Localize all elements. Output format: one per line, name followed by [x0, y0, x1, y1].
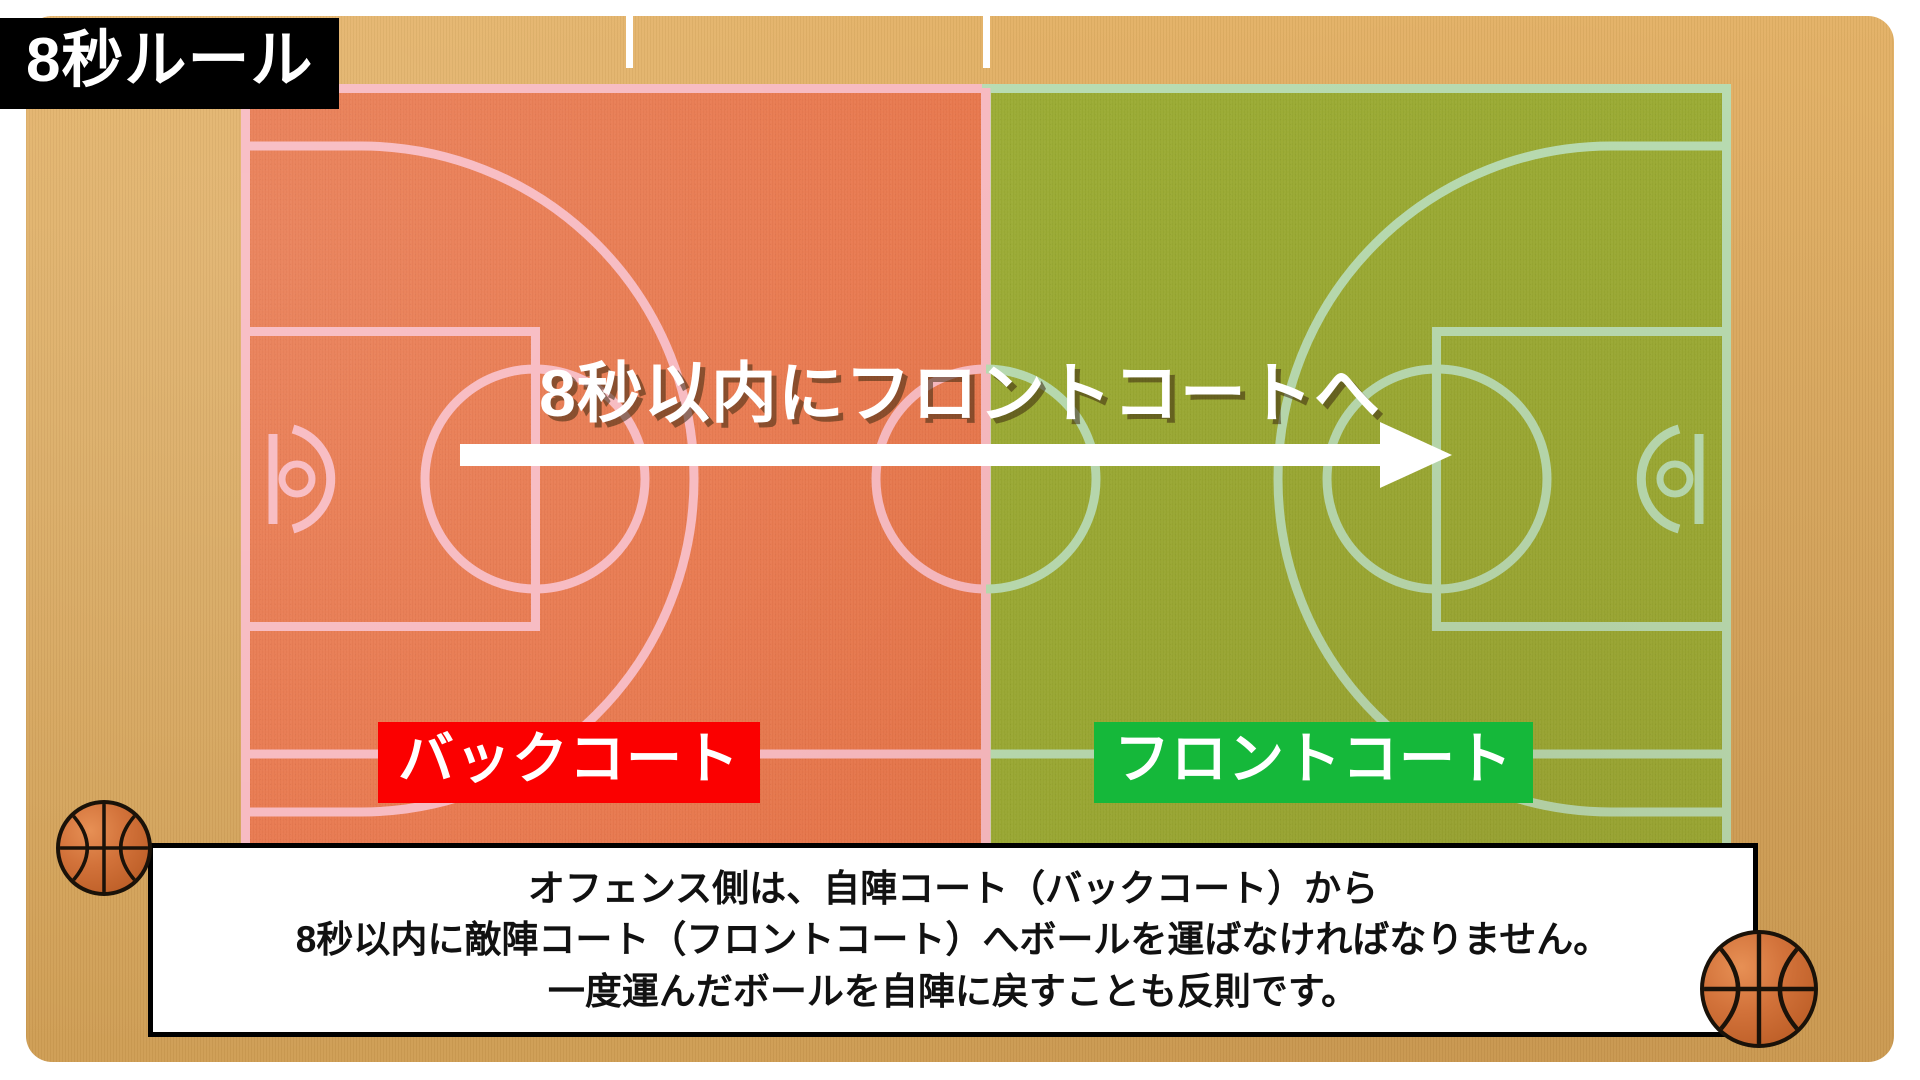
- basketball-icon: [56, 800, 152, 896]
- caption-line-3: 一度運んだボールを自陣に戻すことも反則です。: [548, 967, 1358, 1017]
- caption-box: オフェンス側は、自陣コート（バックコート）から 8秒以内に敵陣コート（フロントコ…: [148, 843, 1758, 1037]
- frontcourt-label-badge: フロントコート: [1094, 722, 1533, 803]
- headline-text: 8秒以内にフロントコートへ: [0, 340, 1920, 436]
- arrow-head: [1380, 422, 1452, 488]
- title-badge: 8秒ルール: [0, 18, 339, 109]
- sideline-tick-top: [626, 16, 633, 68]
- backcourt-label-badge: バックコート: [378, 722, 760, 803]
- caption-line-2: 8秒以内に敵陣コート（フロントコート）へボールを運ばなければなりません。: [296, 915, 1610, 965]
- diagram-canvas: 8秒ルール 8秒以内にフロントコートへ バックコート フロントコート オフェンス…: [0, 0, 1920, 1080]
- basketball-icon: [1700, 930, 1818, 1048]
- right-arrow-icon: [460, 424, 1470, 484]
- arrow-shaft: [460, 444, 1390, 466]
- center-line-tick-top: [983, 16, 990, 68]
- caption-line-1: オフェンス側は、自陣コート（バックコート）から: [528, 864, 1378, 914]
